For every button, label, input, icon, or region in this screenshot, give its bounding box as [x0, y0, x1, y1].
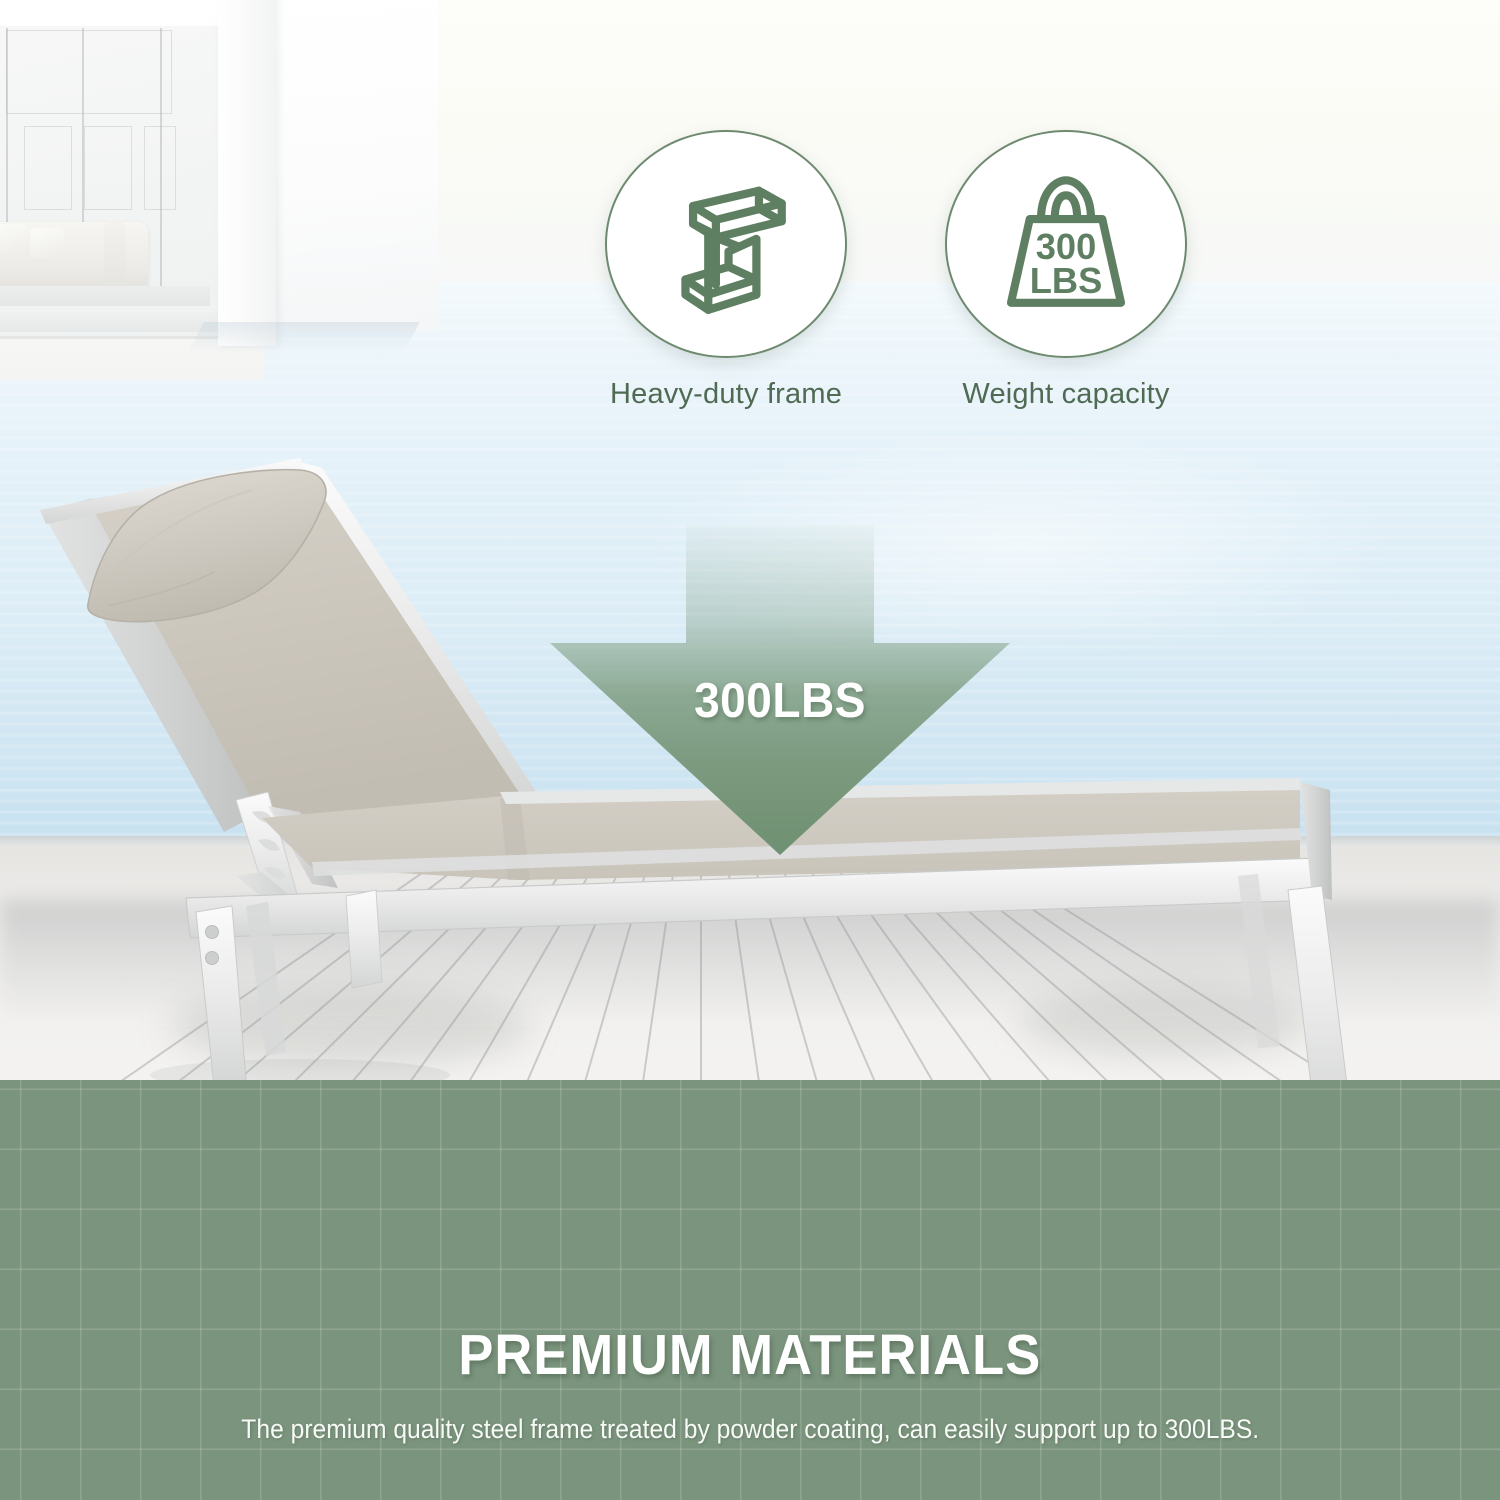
footer-panel: PREMIUM MATERIALS The premium quality st…	[0, 1080, 1500, 1500]
rivet	[206, 926, 219, 939]
badge-circle	[605, 130, 847, 358]
middle-leg	[346, 890, 382, 988]
footer-title: PREMIUM MATERIALS	[459, 1322, 1042, 1388]
bag-weight-unit: LBS	[1030, 260, 1103, 301]
badge-heavy-duty-frame[interactable]: Heavy-duty frame	[605, 130, 847, 411]
bag-handle	[1041, 180, 1091, 219]
badge-circle: 300 LBS	[945, 130, 1187, 358]
footer-text-block: PREMIUM MATERIALS The premium quality st…	[0, 1300, 1500, 1500]
footer-subtitle: The premium quality steel frame treated …	[241, 1414, 1259, 1445]
i-beam-icon	[650, 168, 802, 320]
weight-bag-icon: 300 LBS	[991, 169, 1141, 319]
weight-arrow: 300LBS	[530, 525, 1030, 885]
badge-weight-capacity[interactable]: 300 LBS Weight capacity	[945, 130, 1187, 411]
badge-label: Heavy-duty frame	[605, 378, 847, 411]
rivet	[206, 952, 219, 965]
product-marketing-image: 300LBS	[0, 0, 1500, 1500]
badge-label: Weight capacity	[945, 378, 1187, 411]
down-arrow-icon	[530, 525, 1030, 885]
